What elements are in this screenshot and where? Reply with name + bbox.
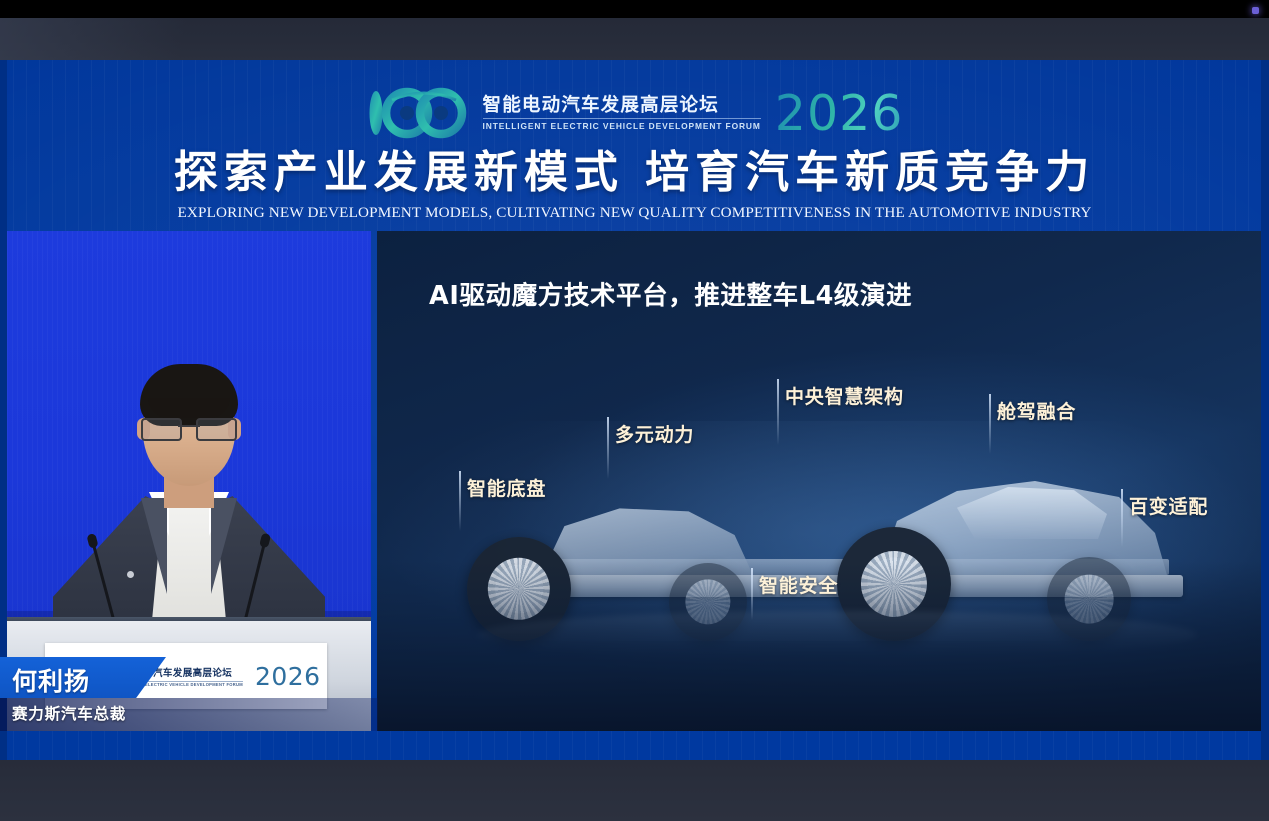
glasses-lens-right (196, 418, 237, 441)
broadcast-screen: 智能电动汽车发展高层论坛 INTELLIGENT ELECTRIC VEHICL… (0, 0, 1269, 821)
event-logo-rule (483, 118, 761, 119)
callout-label-5: 百变适配 (1129, 496, 1208, 518)
speaker-video-panel: 智能电动汽车发展高层论坛 INTELLIGENT ELECTRIC VEHICL… (7, 231, 371, 731)
speaker-lapel-right (211, 498, 237, 594)
ico-forum-logo-icon (366, 87, 471, 139)
speaker-role: 赛力斯汽车总裁 (12, 702, 126, 724)
callout-tick-4 (989, 394, 991, 454)
callout-label-4: 舱驾融合 (997, 401, 1076, 423)
event-name-en: INTELLIGENT ELECTRIC VEHICLE DEVELOPMENT… (483, 121, 761, 131)
event-logo-text: 智能电动汽车发展高层论坛 INTELLIGENT ELECTRIC VEHICL… (483, 95, 761, 131)
event-headline-cn: 探索产业发展新模式 培育汽车新质竞争力 (0, 148, 1269, 199)
speaker-lapel-left (141, 498, 167, 594)
presentation-slide-panel: AI驱动魔方技术平台，推进整车L4级演进 智能底盘 多元动力 中央智慧架构 舱驾… (377, 231, 1261, 731)
callout-cockpit-fusion: 舱驾融合 (997, 397, 1076, 424)
callout-tick-2 (607, 417, 609, 479)
speaker-name: 何利扬 (12, 662, 90, 698)
callout-label-1: 智能底盘 (467, 478, 546, 500)
event-header: 智能电动汽车发展高层论坛 INTELLIGENT ELECTRIC VEHICL… (0, 60, 1269, 230)
podium-event-year: 2026 (255, 662, 321, 691)
callout-label-3: 中央智慧架构 (785, 386, 904, 408)
callout-safety: 智能安全 (759, 571, 838, 598)
callout-label-2: 多元动力 (615, 424, 694, 446)
callout-powertrain: 多元动力 (615, 420, 694, 447)
callout-adaptability: 百变适配 (1129, 492, 1208, 519)
event-year: 2026 (775, 89, 904, 138)
callout-label-6: 智能安全 (759, 575, 838, 597)
callout-tick-1 (459, 471, 461, 531)
speaker-lapel-pin (127, 571, 134, 578)
upper-letterbox-band (0, 18, 1269, 60)
callout-central-architecture: 中央智慧架构 (785, 382, 904, 409)
event-name-cn: 智能电动汽车发展高层论坛 (483, 95, 761, 115)
glasses-bridge (178, 425, 200, 427)
callout-tick-5 (1121, 489, 1123, 547)
callout-tick-3 (777, 379, 779, 445)
lower-letterbox-band (0, 760, 1269, 821)
speaker-glasses (141, 418, 237, 438)
speaker-hair (140, 364, 238, 426)
status-dot-icon (1252, 7, 1259, 14)
glasses-lens-left (141, 418, 182, 441)
system-topbar (0, 0, 1269, 18)
callout-chassis: 智能底盘 (467, 474, 546, 501)
event-logo-lockup: 智能电动汽车发展高层论坛 INTELLIGENT ELECTRIC VEHICL… (0, 82, 1269, 144)
event-headline-en: EXPLORING NEW DEVELOPMENT MODELS, CULTIV… (0, 204, 1269, 222)
slide-title: AI驱动魔方技术平台，推进整车L4级演进 (429, 275, 912, 312)
callout-tick-6 (751, 568, 753, 620)
